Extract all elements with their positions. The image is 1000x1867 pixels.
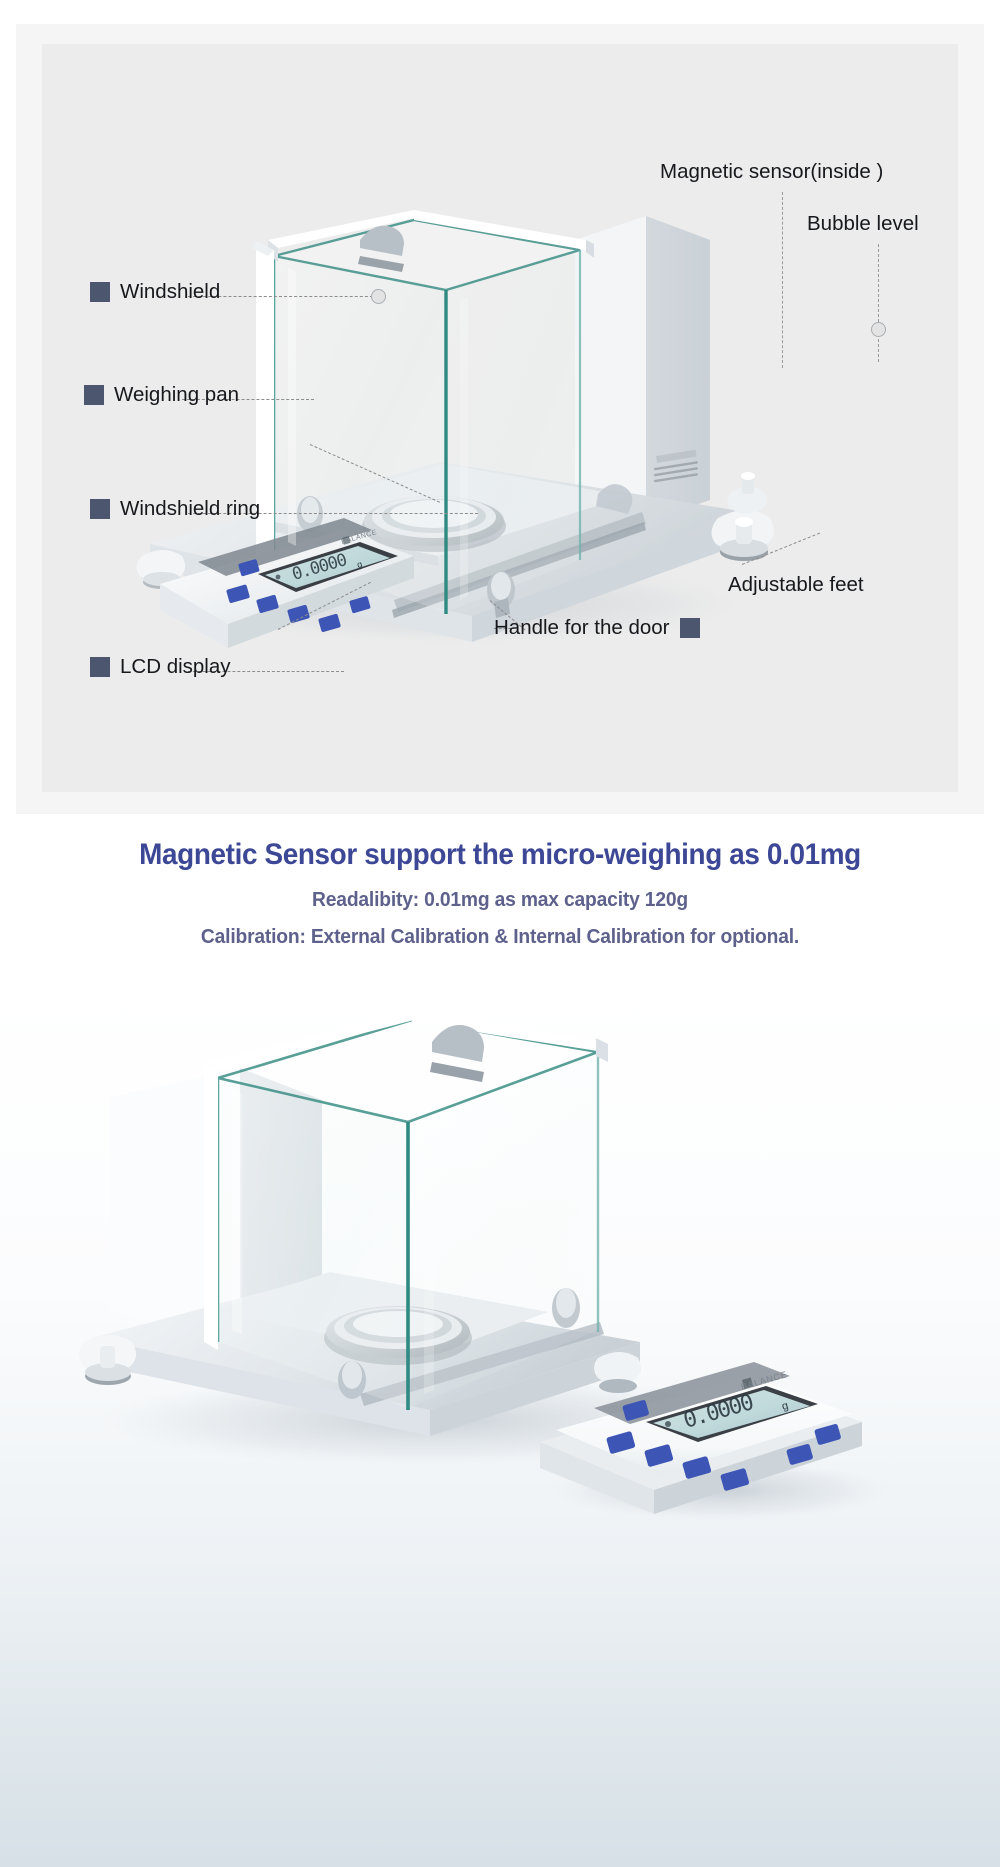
label-text: Handle for the door (494, 618, 670, 639)
diagram-section: 0.0000 g BALAN (16, 24, 984, 814)
label-text: Adjustable feet (728, 575, 864, 596)
label-text: Bubble level (807, 214, 919, 235)
subtitle-readability: Readalibity: 0.01mg as max capacity 120g (30, 888, 970, 912)
product-photo: 0.0000 g BALANCE (0, 990, 1000, 1867)
label-adjustable-feet: Adjustable feet (728, 575, 864, 596)
label-marker-square (680, 618, 700, 638)
diagram-panel: 0.0000 g BALAN (42, 44, 958, 792)
label-handle-for-door: Handle for the door (494, 618, 700, 639)
balance-illustration: 0.0000 g BALAN (42, 44, 958, 792)
label-marker-square (90, 499, 110, 519)
label-text: Windshield (120, 282, 220, 303)
label-windshield-ring: Windshield ring (90, 499, 260, 520)
infographic-page: 0.0000 g BALAN (0, 0, 1000, 1867)
label-text: Windshield ring (120, 499, 260, 520)
headings-block: Magnetic Sensor support the micro-weighi… (0, 836, 1000, 949)
label-magnetic-sensor: Magnetic sensor(inside ) (660, 162, 883, 183)
label-text: Weighing pan (114, 385, 239, 406)
subtitle-calibration: Calibration: External Calibration & Inte… (30, 925, 970, 949)
label-marker-square (90, 657, 110, 677)
label-lcd-display: LCD display (90, 657, 231, 678)
label-marker-square (84, 385, 104, 405)
label-weighing-pan: Weighing pan (84, 385, 239, 406)
label-marker-square (90, 282, 110, 302)
label-text: Magnetic sensor(inside ) (660, 162, 883, 183)
label-text: LCD display (120, 657, 231, 678)
product-photo-section: 0.0000 g BALANCE (0, 990, 1000, 1867)
page-title: Magnetic Sensor support the micro-weighi… (35, 836, 965, 874)
label-windshield: Windshield (90, 282, 220, 303)
label-bubble-level: Bubble level (807, 214, 919, 235)
